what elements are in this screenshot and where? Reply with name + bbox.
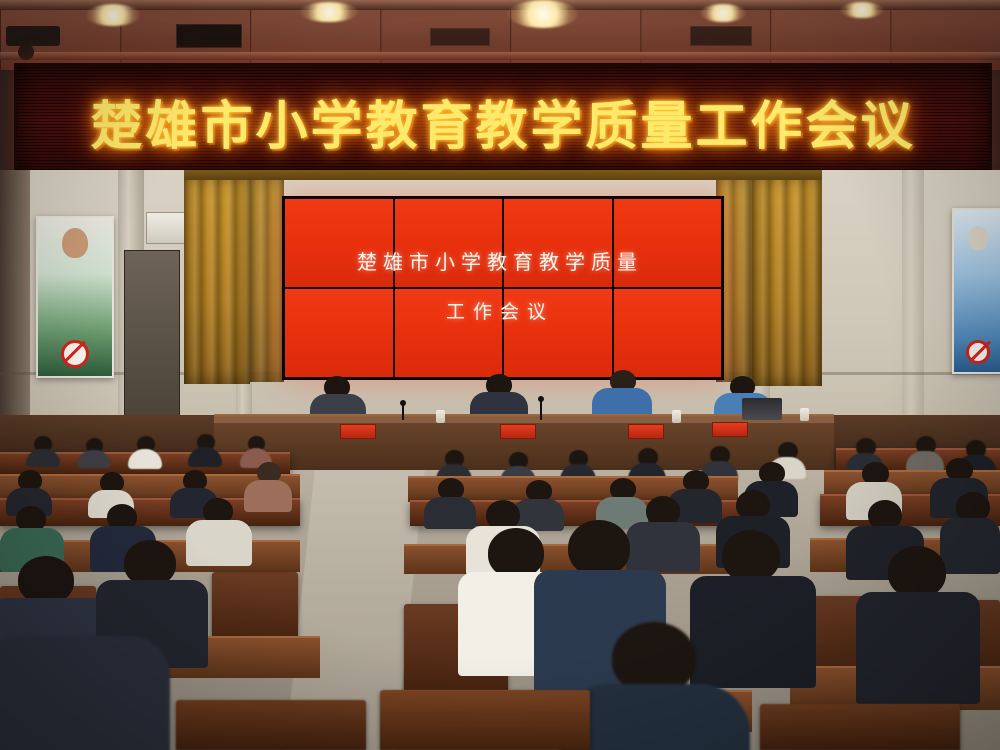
- person-body: [128, 449, 162, 469]
- ceiling-light: [508, 0, 578, 28]
- audience-person: [560, 450, 596, 478]
- cup: [436, 410, 445, 423]
- person-head: [568, 520, 630, 576]
- video-wall-panel: [614, 199, 722, 287]
- video-wall-panel: [395, 199, 503, 287]
- microphone-icon: [540, 400, 542, 420]
- person-head: [888, 546, 946, 598]
- video-wall-panel: [614, 289, 722, 377]
- ceiling-vent: [690, 26, 752, 46]
- curtain-left-inner: [250, 176, 284, 382]
- no-smoking-icon: [966, 340, 990, 364]
- ceiling-light: [840, 2, 884, 18]
- audience-person: [628, 448, 666, 478]
- chair: [176, 700, 366, 750]
- microphone-icon: [402, 404, 404, 420]
- person-head: [18, 556, 74, 604]
- person-head: [722, 530, 780, 582]
- conference-hall-photo: 楚雄市小学教育教学质量工作会议 楚雄市小学教育教学质量 工作会议 禁止吸烟: [0, 0, 1000, 750]
- curtain-left: [184, 176, 250, 384]
- ceiling-light: [86, 4, 140, 26]
- person-body: [26, 449, 60, 467]
- person-body: [188, 447, 222, 467]
- wall-column: [902, 170, 924, 430]
- cup: [800, 408, 809, 421]
- poster-portrait-icon: [968, 226, 988, 250]
- person-body: [78, 450, 110, 468]
- cup: [672, 410, 681, 423]
- video-wall-panel: [504, 289, 612, 377]
- person-body: [856, 592, 980, 704]
- poster-left: 禁止吸烟: [36, 216, 114, 378]
- video-wall: [282, 196, 724, 380]
- nameplate: [500, 424, 536, 439]
- chair: [380, 690, 590, 750]
- poster-right: 禁止吸烟: [952, 208, 1000, 374]
- laptop: [742, 398, 782, 420]
- audience-person-foreground: [0, 636, 170, 750]
- nameplate: [712, 422, 748, 437]
- ceiling-vent: [176, 24, 242, 48]
- ceiling-beam: [0, 52, 1000, 60]
- ceiling-light: [300, 2, 358, 22]
- nameplate: [340, 424, 376, 439]
- audience-person-foreground: [856, 546, 980, 696]
- nameplate: [628, 424, 664, 439]
- audience-person: [26, 436, 60, 460]
- poster-portrait-icon: [62, 228, 88, 258]
- audience-person: [436, 450, 472, 478]
- video-wall-panel: [504, 199, 612, 287]
- projector-mount: [6, 26, 60, 46]
- chair: [212, 572, 298, 644]
- ceiling-light: [700, 4, 746, 22]
- led-banner: 楚雄市小学教育教学质量工作会议: [14, 63, 992, 179]
- audience-person: [78, 438, 110, 462]
- curtain-right: [752, 176, 822, 386]
- curtain-rail: [184, 170, 822, 180]
- chair: [760, 704, 960, 750]
- audience-person: [6, 470, 52, 510]
- audience-person: [240, 436, 272, 462]
- side-door: [124, 250, 180, 422]
- led-banner-text: 楚雄市小学教育教学质量工作会议: [90, 84, 915, 159]
- projector-lens-icon: [18, 44, 34, 60]
- video-wall-panel: [395, 289, 503, 377]
- video-wall-panel: [285, 199, 393, 287]
- audience-person: [128, 436, 162, 462]
- ceiling-vent: [430, 28, 490, 46]
- no-smoking-icon: [61, 340, 89, 368]
- audience-person: [188, 434, 222, 460]
- person-body: [0, 636, 170, 750]
- video-wall-panel: [285, 289, 393, 377]
